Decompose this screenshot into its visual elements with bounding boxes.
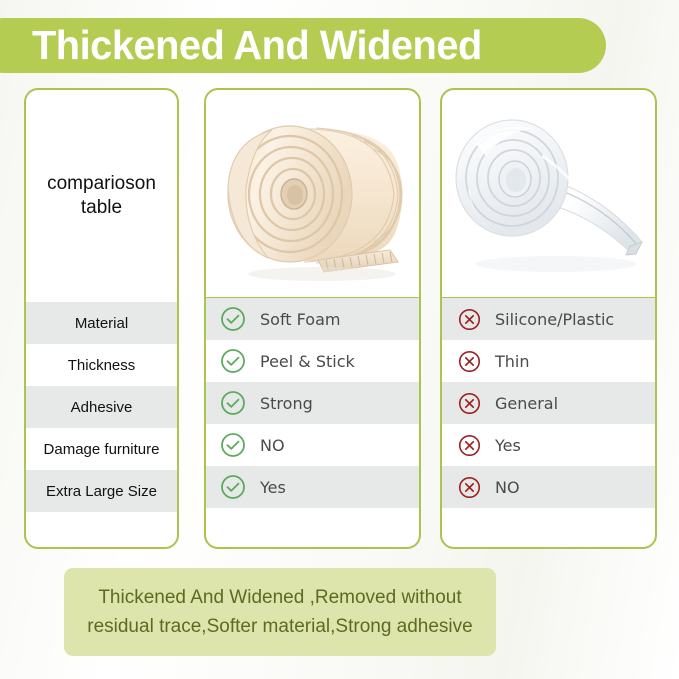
value-text: Soft Foam — [260, 310, 340, 329]
value-text: NO — [495, 478, 520, 497]
table-row: Adhesive — [26, 386, 177, 428]
value-text: Peel & Stick — [260, 352, 355, 371]
table-row: Silicone/Plastic — [442, 298, 655, 340]
clear-silicone-strip-image — [446, 96, 651, 291]
rival-image-area — [442, 90, 655, 297]
table-row: Strong — [206, 382, 419, 424]
row-label: Adhesive — [71, 399, 133, 416]
table-row: General — [442, 382, 655, 424]
rival-product-card: Silicone/Plastic Thin General Yes — [440, 88, 657, 549]
rival-value-rows: Silicone/Plastic Thin General Yes — [442, 298, 655, 508]
comparison-label-card: comparioson table Material Thickness Adh… — [24, 88, 179, 549]
check-circle-icon — [220, 306, 246, 332]
cross-circle-icon — [458, 434, 481, 457]
table-row: Damage furniture — [26, 428, 177, 470]
row-label: Thickness — [68, 357, 136, 374]
header-banner: Thickened And Widened — [0, 18, 606, 73]
feature-caption-text: Thickened And Widened ,Removed without r… — [78, 583, 482, 642]
check-circle-icon — [220, 390, 246, 416]
table-row: NO — [206, 424, 419, 466]
our-product-value-rows: Soft Foam Peel & Stick Strong NO — [206, 298, 419, 508]
cross-circle-icon — [458, 308, 481, 331]
value-text: General — [495, 394, 558, 413]
check-circle-icon — [220, 348, 246, 374]
cross-circle-icon — [458, 392, 481, 415]
comparison-table-heading-text: comparioson table — [34, 172, 169, 220]
row-label: Extra Large Size — [46, 483, 157, 500]
value-text: Thin — [495, 352, 530, 371]
table-row: Peel & Stick — [206, 340, 419, 382]
value-text: Yes — [260, 478, 286, 497]
check-circle-icon — [220, 432, 246, 458]
table-row: Yes — [206, 466, 419, 508]
value-text: Strong — [260, 394, 313, 413]
page-title: Thickened And Widened — [32, 22, 482, 69]
foam-corner-guard-roll-image — [212, 102, 412, 287]
cross-circle-icon — [458, 476, 481, 499]
value-text: NO — [260, 436, 285, 455]
table-row: NO — [442, 466, 655, 508]
table-row: Material — [26, 302, 177, 344]
our-product-card: Soft Foam Peel & Stick Strong NO — [204, 88, 421, 549]
check-circle-icon — [220, 474, 246, 500]
product-image-area — [206, 90, 419, 297]
table-row: Soft Foam — [206, 298, 419, 340]
value-text: Silicone/Plastic — [495, 310, 614, 329]
value-text: Yes — [495, 436, 521, 455]
table-row: Thin — [442, 340, 655, 382]
table-row: Thickness — [26, 344, 177, 386]
table-row: Yes — [442, 424, 655, 466]
cross-circle-icon — [458, 350, 481, 373]
row-label: Material — [75, 315, 128, 332]
table-row: Extra Large Size — [26, 470, 177, 512]
row-label: Damage furniture — [44, 441, 160, 458]
comparison-label-rows: Material Thickness Adhesive Damage furni… — [26, 302, 177, 512]
feature-caption-box: Thickened And Widened ,Removed without r… — [64, 568, 496, 656]
comparison-table-heading: comparioson table — [26, 90, 177, 302]
